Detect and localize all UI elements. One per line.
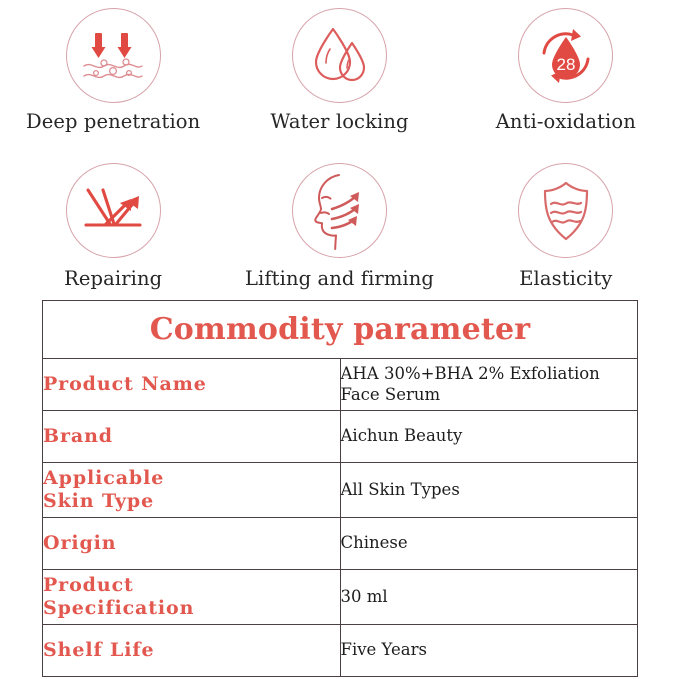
commodity-parameter-table: Commodity parameter Product Name AHA 30%… <box>42 300 638 677</box>
feature-circle <box>66 8 161 103</box>
feature-circle <box>292 8 387 103</box>
feature-anti-oxidation: 28 Anti-oxidation <box>453 0 679 150</box>
feature-water-locking: Water locking <box>226 0 452 150</box>
row-value-applicable-skin-type: All Skin Types <box>340 463 638 518</box>
row-label-applicable-skin-type: Applicable Skin Type <box>43 463 341 518</box>
repairing-arrows-icon <box>76 174 150 248</box>
feature-grid: Deep penetration Water locking <box>0 0 679 300</box>
anti-oxidation-icon: 28 <box>529 19 603 93</box>
feature-circle <box>292 163 387 258</box>
feature-row-2: Repairing <box>0 150 679 300</box>
feature-repairing: Repairing <box>0 150 226 300</box>
table-row: Brand Aichun Beauty <box>43 411 638 463</box>
table-row: Product Name AHA 30%+BHA 2% Exfoliation … <box>43 359 638 411</box>
label-line-1: Product <box>43 574 340 597</box>
label-line-2: Skin Type <box>43 490 340 513</box>
deep-penetration-icon <box>76 19 150 93</box>
row-value-shelf-life: Five Years <box>340 625 638 677</box>
feature-caption: Elasticity <box>519 269 612 289</box>
table-title-row: Commodity parameter <box>43 301 638 359</box>
feature-circle <box>66 163 161 258</box>
face-lifting-icon <box>299 171 379 251</box>
row-value-product-name: AHA 30%+BHA 2% Exfoliation Face Serum <box>340 359 638 411</box>
table-row: Applicable Skin Type All Skin Types <box>43 463 638 518</box>
table-row: Product Specification 30 ml <box>43 570 638 625</box>
product-infographic: Deep penetration Water locking <box>0 0 679 679</box>
page-title: Commodity parameter <box>150 312 531 347</box>
feature-caption: Water locking <box>270 112 408 132</box>
row-label-product-name: Product Name <box>43 359 341 411</box>
water-drop-icon <box>302 19 376 93</box>
anti-oxidation-badge-text: 28 <box>556 55 575 74</box>
table-row: Shelf Life Five Years <box>43 625 638 677</box>
feature-deep-penetration: Deep penetration <box>0 0 226 150</box>
feature-caption: Lifting and firming <box>245 269 434 289</box>
row-value-brand: Aichun Beauty <box>340 411 638 463</box>
feature-row-1: Deep penetration Water locking <box>0 0 679 150</box>
feature-circle <box>518 163 613 258</box>
feature-caption: Repairing <box>64 269 162 289</box>
label-line-1: Applicable <box>43 467 340 490</box>
row-value-origin: Chinese <box>340 518 638 570</box>
shield-elasticity-icon <box>529 174 603 248</box>
row-value-product-specification: 30 ml <box>340 570 638 625</box>
row-label-origin: Origin <box>43 518 341 570</box>
row-label-brand: Brand <box>43 411 341 463</box>
table-row: Origin Chinese <box>43 518 638 570</box>
table-title-cell: Commodity parameter <box>43 301 638 359</box>
label-line-2: Specification <box>43 597 340 620</box>
feature-circle: 28 <box>518 8 613 103</box>
feature-caption: Anti-oxidation <box>496 112 636 132</box>
feature-elasticity: Elasticity <box>453 150 679 300</box>
feature-caption: Deep penetration <box>26 112 200 132</box>
feature-lifting-and-firming: Lifting and firming <box>226 150 452 300</box>
row-label-product-specification: Product Specification <box>43 570 341 625</box>
row-label-shelf-life: Shelf Life <box>43 625 341 677</box>
